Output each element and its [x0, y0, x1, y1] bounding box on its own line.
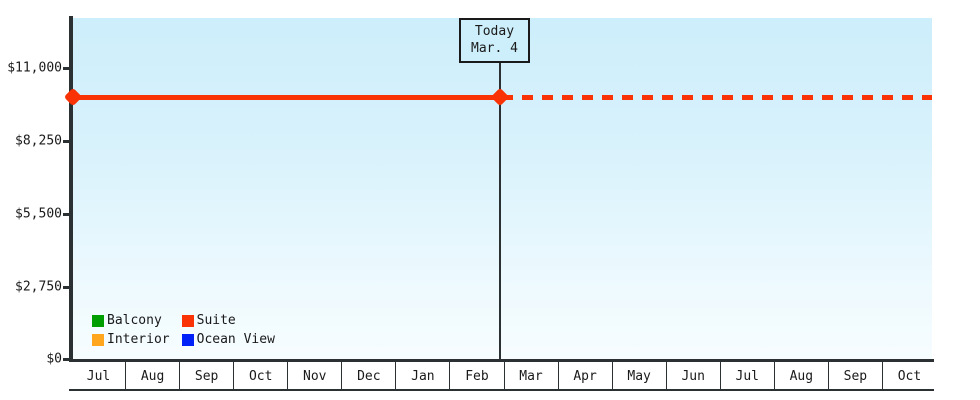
- x-axis-tick-sep-2[interactable]: Sep: [828, 362, 882, 390]
- y-axis-label-0: $0: [0, 352, 62, 367]
- today-tooltip-line2: Mar. 4: [471, 40, 518, 57]
- legend-label-balcony: Balcony: [107, 313, 162, 328]
- x-axis-tick-aug-1[interactable]: Aug: [125, 362, 179, 390]
- x-axis-tick-dec[interactable]: Dec: [341, 362, 395, 390]
- x-axis-tick-nov[interactable]: Nov: [287, 362, 341, 390]
- x-axis-tick-jul-1[interactable]: Jul: [72, 362, 125, 390]
- series-line-suite-forecast: [502, 95, 932, 100]
- y-axis-label-11000: $11,000: [0, 61, 62, 76]
- legend-item-suite[interactable]: Suite: [182, 311, 275, 330]
- price-history-chart: $11,000 $8,250 $5,500 $2,750 $0 Today Ma…: [0, 0, 980, 400]
- x-axis-tick-jul-2[interactable]: Jul: [720, 362, 774, 390]
- y-tick-2750: [63, 286, 73, 289]
- x-axis-tick-sep-1[interactable]: Sep: [179, 362, 233, 390]
- today-tooltip: Today Mar. 4: [459, 18, 530, 63]
- x-axis-month-row: Jul Aug Sep Oct Nov Dec Jan Feb Mar Apr …: [72, 362, 936, 390]
- legend-item-ocean-view[interactable]: Ocean View: [182, 330, 275, 349]
- x-axis-tick-oct-2[interactable]: Oct: [882, 362, 936, 390]
- legend-label-suite: Suite: [197, 313, 236, 328]
- today-vertical-line: [499, 18, 501, 362]
- x-axis-tick-oct-1[interactable]: Oct: [233, 362, 287, 390]
- y-axis-label-8250: $8,250: [0, 134, 62, 149]
- legend-item-interior[interactable]: Interior: [92, 330, 170, 349]
- legend-label-ocean-view: Ocean View: [197, 332, 275, 347]
- plot-area: [72, 18, 932, 360]
- legend-swatch-ocean-view-icon: [182, 334, 194, 346]
- x-axis-tick-jun[interactable]: Jun: [666, 362, 720, 390]
- legend-swatch-suite-icon: [182, 315, 194, 327]
- x-axis-tick-apr[interactable]: Apr: [558, 362, 612, 390]
- y-tick-5500: [63, 213, 73, 216]
- y-tick-11000: [63, 67, 73, 70]
- today-tooltip-line1: Today: [471, 23, 518, 40]
- x-axis-tick-aug-2[interactable]: Aug: [774, 362, 828, 390]
- legend-label-interior: Interior: [107, 332, 170, 347]
- x-axis-tick-jan[interactable]: Jan: [395, 362, 449, 390]
- y-axis-label-2750: $2,750: [0, 280, 62, 295]
- legend: Balcony Suite Interior Ocean View: [92, 311, 275, 349]
- legend-item-balcony[interactable]: Balcony: [92, 311, 170, 330]
- x-axis-tick-mar[interactable]: Mar: [504, 362, 558, 390]
- legend-swatch-balcony-icon: [92, 315, 104, 327]
- x-axis-tick-may[interactable]: May: [612, 362, 666, 390]
- series-line-suite-actual: [72, 95, 500, 100]
- legend-swatch-interior-icon: [92, 334, 104, 346]
- y-tick-8250: [63, 140, 73, 143]
- x-axis-bottom-rule: [69, 389, 934, 391]
- x-axis-tick-feb[interactable]: Feb: [449, 362, 503, 390]
- y-axis-label-5500: $5,500: [0, 207, 62, 222]
